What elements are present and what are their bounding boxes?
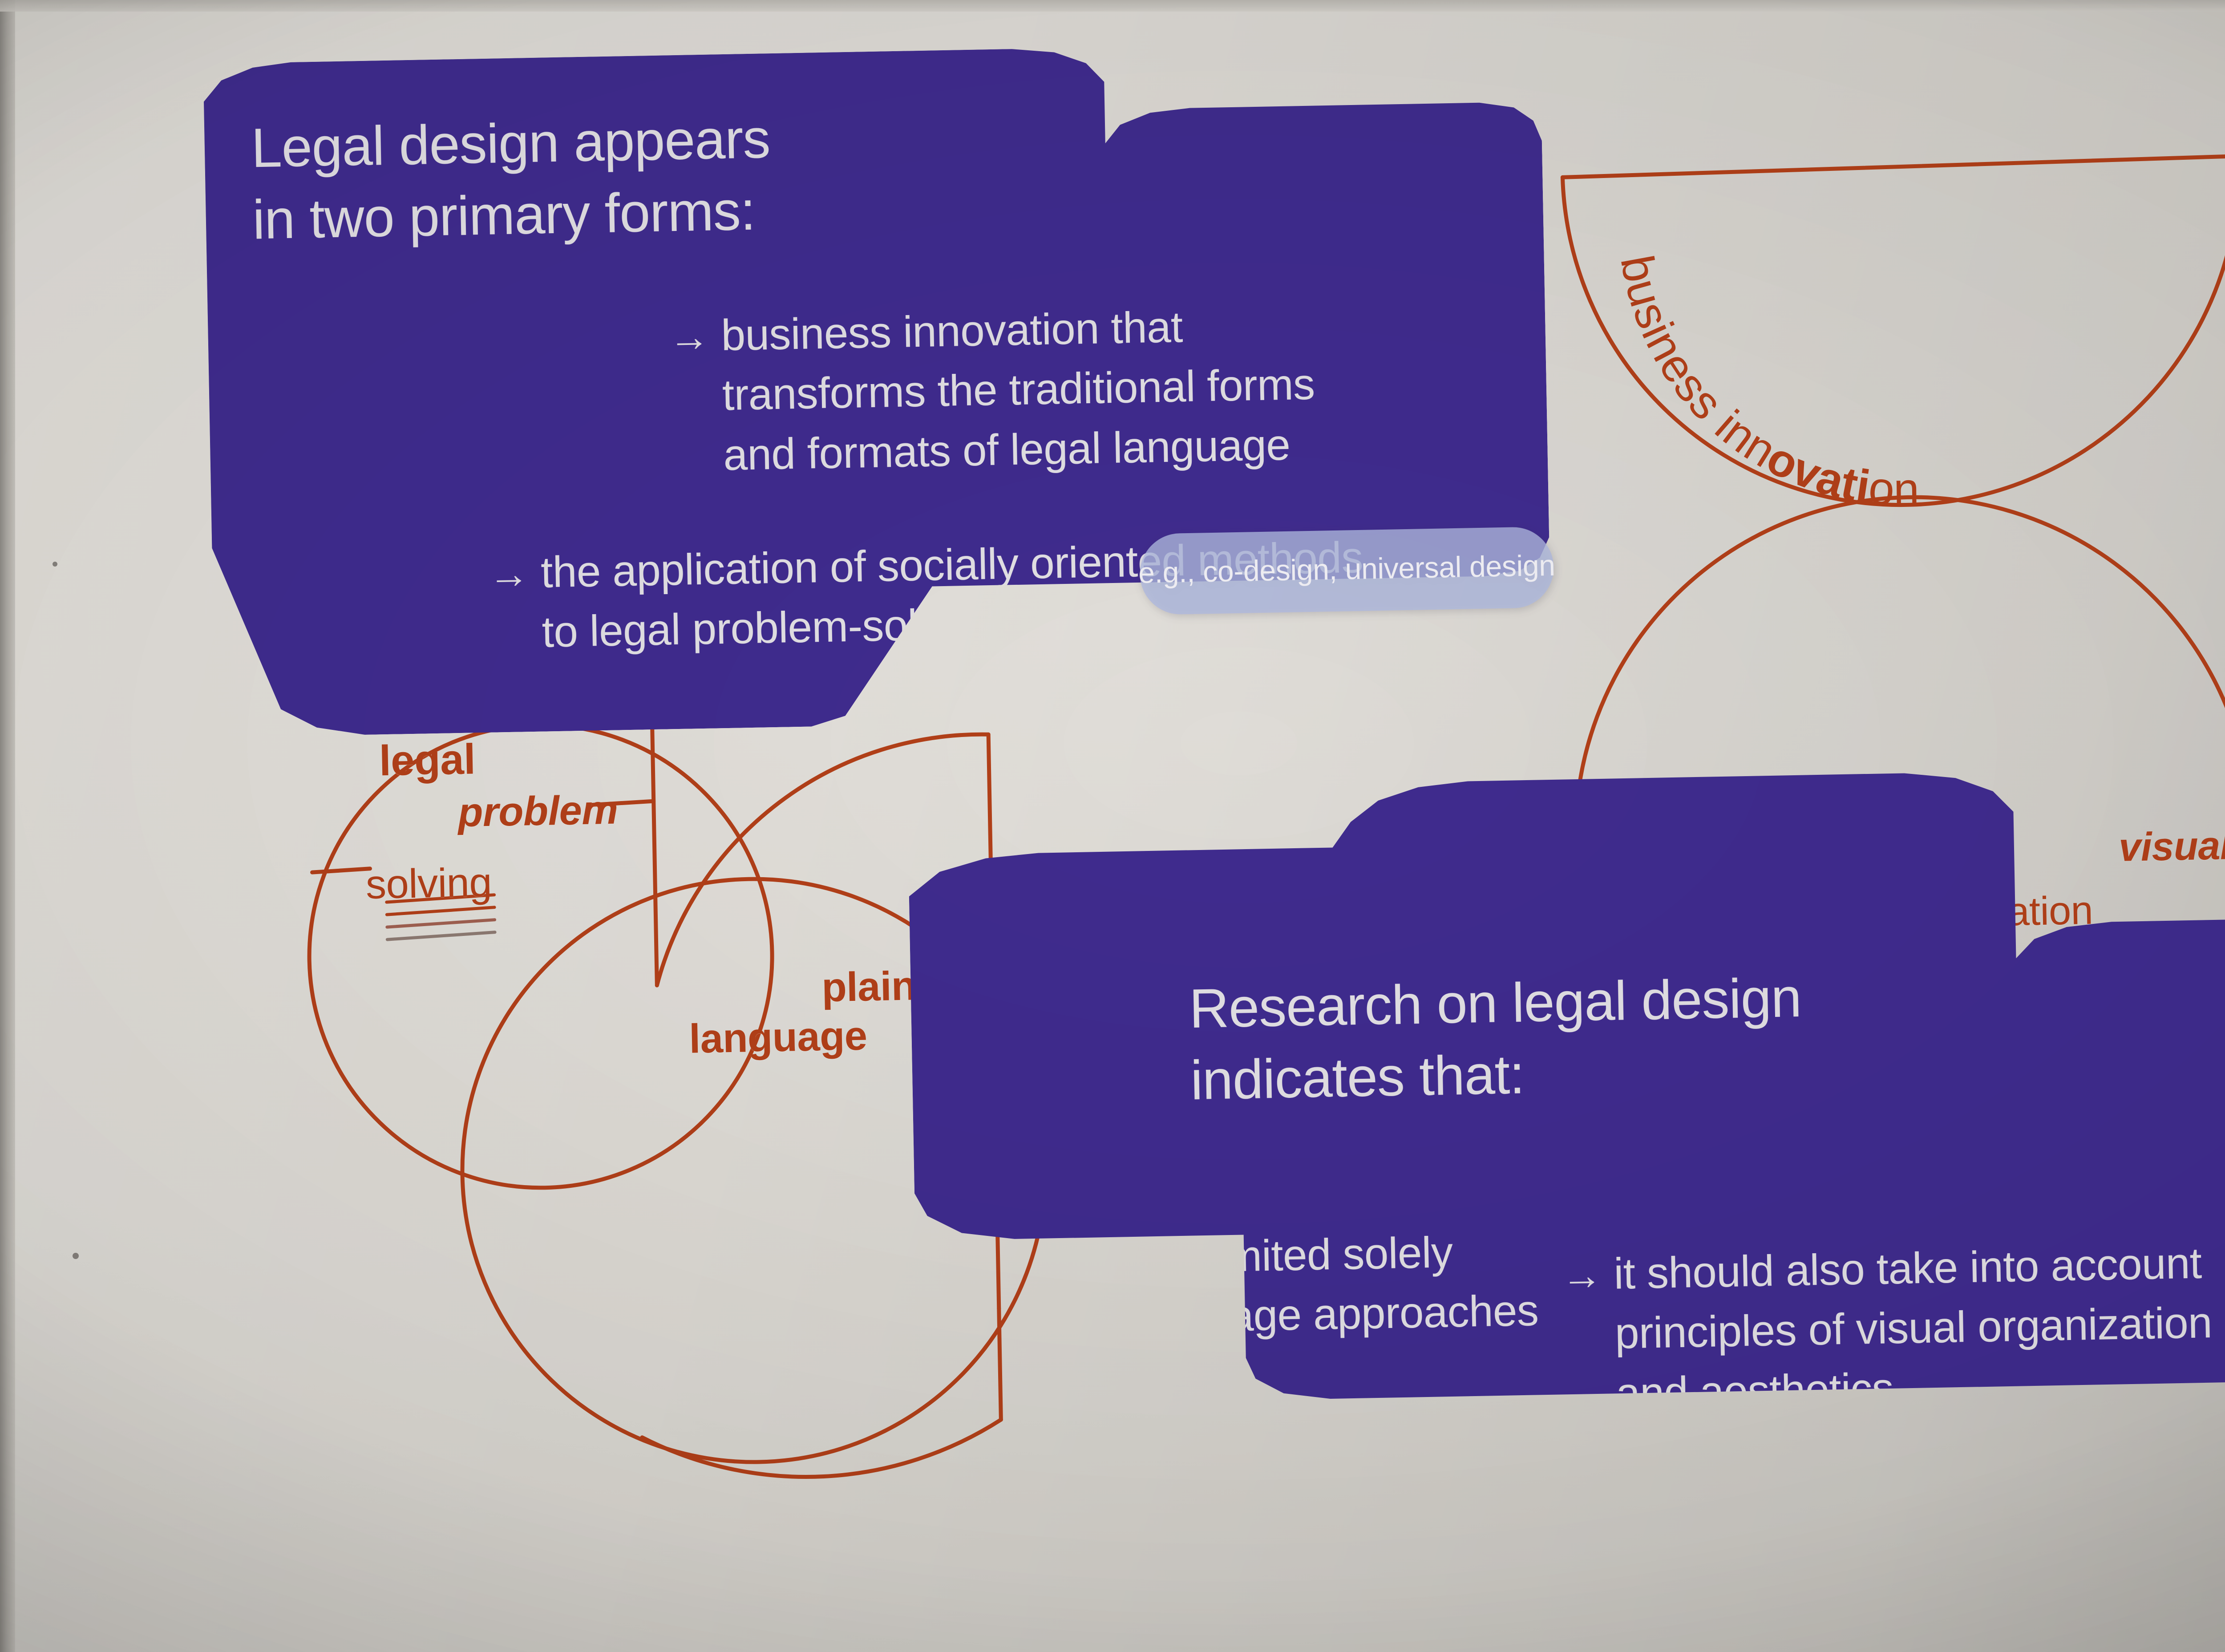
diagram-label-legal: legal: [379, 735, 476, 786]
panel2-heading-line1: Research on legal design: [1189, 962, 1802, 1045]
slide-photograph: business innovation legal problem solvin…: [0, 0, 2225, 1652]
example-badge-text: e.g., co-design, universal design: [1138, 548, 1556, 590]
problem-bold-part: problem: [457, 787, 618, 836]
arrow-icon: →: [488, 546, 541, 603]
diagram-label-language: language: [689, 1012, 868, 1062]
panel1-bullet-1: →business innovation that transforms the…: [668, 295, 1316, 486]
example-badge-pill: e.g., co-design, universal design: [1139, 526, 1554, 615]
panel1-bullet-1-line2: transforms the traditional forms: [669, 354, 1315, 426]
poster-artwork: business innovation legal problem solvin…: [0, 0, 2225, 1652]
panel2-heading: Research on legal design indicates that:: [1189, 962, 1803, 1117]
panel1-heading: Legal design appears in two primary form…: [251, 103, 772, 256]
panel1-bullet-1-line3: and formats of legal language: [670, 414, 1316, 486]
panel2-heading-line2: indicates that:: [1190, 1034, 1803, 1117]
arrow-icon: →: [668, 308, 722, 365]
diagram-label-solving: solving: [365, 859, 492, 908]
panel2-bullet-2-line1: →it should also take into account: [1561, 1233, 2211, 1304]
diagram-label-plain: plain: [821, 963, 917, 1011]
arrow-icon: →: [1561, 1247, 1614, 1304]
panel1-bullet-1-text1: business innovation that: [721, 302, 1183, 360]
panel2-bullet-2-text1: it should also take into account: [1614, 1239, 2202, 1298]
diagram-label-visual: visual: [2118, 823, 2225, 871]
panel1-bullet-1-line1: →business innovation that: [668, 295, 1314, 366]
panel1-heading-line1: Legal design appears: [251, 103, 771, 185]
panel2-bullet-2-line2: principles of visual organization: [1562, 1292, 2213, 1364]
panel1-heading-line2: in two primary forms:: [252, 175, 772, 256]
diagram-label-problem: problem: [457, 787, 618, 837]
